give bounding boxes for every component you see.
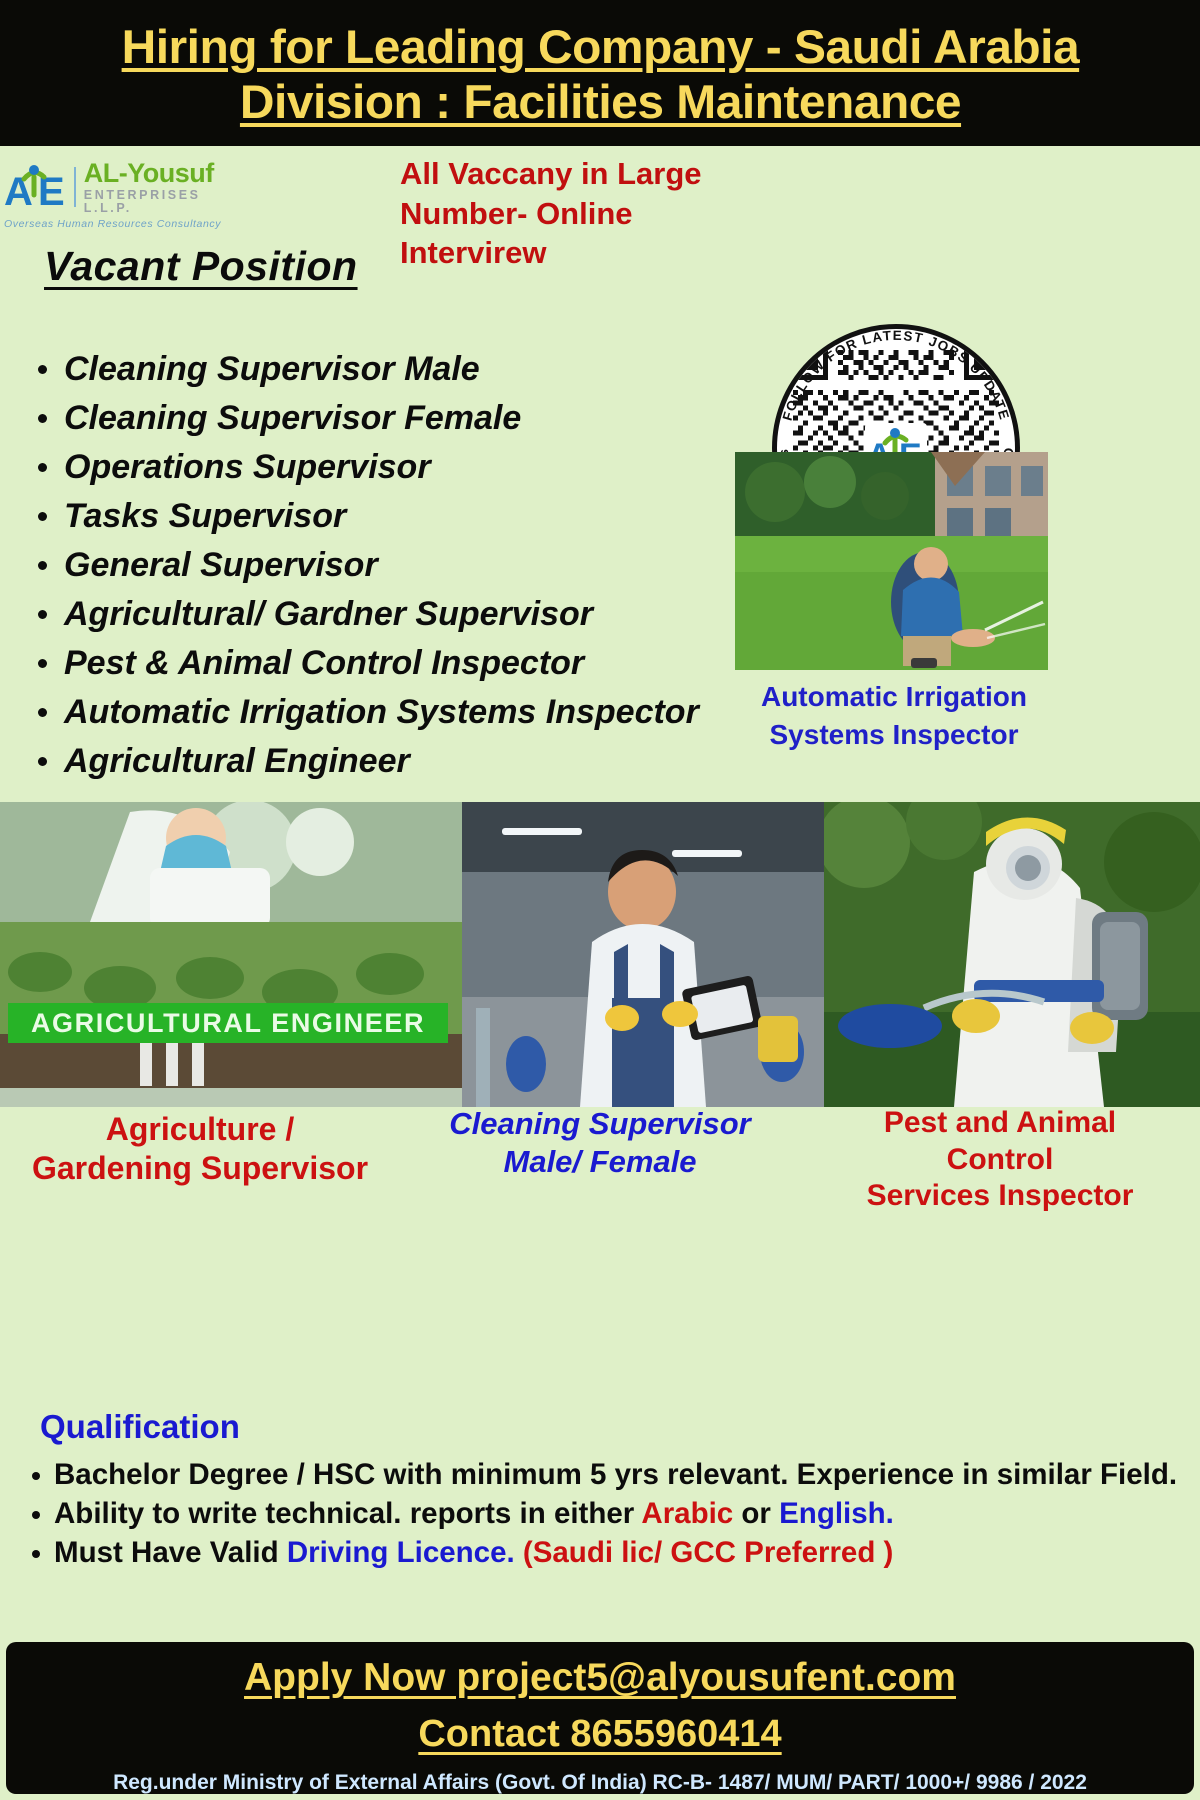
caption-line: Control xyxy=(800,1142,1200,1179)
logo-company-subtitle: ENTERPRISES L.L.P. xyxy=(84,189,234,214)
agricultural-engineer-banner-label: AGRICULTURAL ENGINEER xyxy=(31,1008,425,1039)
poster-header: Hiring for Leading Company - Saudi Arabi… xyxy=(0,0,1200,146)
poster-footer: Apply Now project5@alyousufent.com Conta… xyxy=(6,1642,1194,1794)
list-item: Tasks Supervisor xyxy=(26,492,786,541)
aye-logo-icon: A E xyxy=(4,161,66,213)
pest-control-sprayer-photo xyxy=(824,802,1200,1107)
vacant-position-list: Cleaning Supervisor Male Cleaning Superv… xyxy=(26,345,786,786)
qual-text: Must Have Valid xyxy=(54,1536,287,1569)
qualification-list: Bachelor Degree / HSC with minimum 5 yrs… xyxy=(22,1455,1182,1573)
qual-language-arabic: Arabic xyxy=(641,1497,733,1530)
caption-pest-animal-control: Pest and Animal Control Services Inspect… xyxy=(800,1105,1200,1225)
vacancy-notice: All Vaccany in Large Number- Online Inte… xyxy=(400,154,730,273)
list-item: General Supervisor xyxy=(26,541,786,590)
logo-divider xyxy=(74,167,76,207)
list-item: Cleaning Supervisor Male xyxy=(26,345,786,394)
list-item: Agricultural Engineer xyxy=(26,737,786,786)
list-item: Pest & Animal Control Inspector xyxy=(26,639,786,688)
caption-agriculture-gardening: Agriculture / Gardening Supervisor xyxy=(0,1105,400,1225)
list-item: Automatic Irrigation Systems Inspector xyxy=(26,688,786,737)
irrigation-technician-photo xyxy=(735,452,1048,670)
list-item: Agricultural/ Gardner Supervisor xyxy=(26,590,786,639)
photo-band: AGRICULTURAL ENGINEER xyxy=(0,802,1200,1107)
logo-company-name: AL-Yousuf xyxy=(84,160,234,187)
header-title-line1: Hiring for Leading Company - Saudi Arabi… xyxy=(121,23,1079,71)
list-item: Ability to write technical. reports in e… xyxy=(22,1494,1182,1533)
list-item: Must Have Valid Driving Licence. (Saudi … xyxy=(22,1533,1182,1572)
caption-line: Services Inspector xyxy=(800,1178,1200,1215)
caption-line: Gardening Supervisor xyxy=(0,1149,400,1188)
photo-band-captions: Agriculture / Gardening Supervisor Clean… xyxy=(0,1105,1200,1225)
list-item: Cleaning Supervisor Female xyxy=(26,394,786,443)
apply-email[interactable]: Apply Now project5@alyousufent.com xyxy=(244,1656,956,1700)
logo-tagline: Overseas Human Resources Consultancy xyxy=(4,218,234,230)
qual-text: Ability to write technical. reports in e… xyxy=(54,1497,641,1530)
caption-line: Male/ Female xyxy=(400,1143,800,1181)
caption-cleaning-supervisor: Cleaning Supervisor Male/ Female xyxy=(400,1105,800,1225)
agricultural-engineer-photo: AGRICULTURAL ENGINEER xyxy=(0,802,462,1107)
qual-driving-licence: Driving Licence. xyxy=(287,1536,515,1569)
list-item: Bachelor Degree / HSC with minimum 5 yrs… xyxy=(22,1455,1182,1494)
header-title-line2: Division : Facilities Maintenance xyxy=(239,78,960,126)
cleaning-supervisor-photo xyxy=(462,802,824,1107)
caption-line: Cleaning Supervisor xyxy=(400,1105,800,1143)
registration-note: Reg.under Ministry of External Affairs (… xyxy=(113,1771,1087,1795)
company-logo: A E AL-Yousuf ENTERPRISES L.L.P. Oversea… xyxy=(4,160,234,230)
irrigation-caption-line1: Automatic Irrigation xyxy=(735,678,1053,716)
qual-licence-note: (Saudi lic/ GCC Preferred ) xyxy=(515,1536,894,1569)
qualification-title: Qualification xyxy=(40,1408,240,1446)
qual-text: or xyxy=(733,1497,779,1530)
list-item: Operations Supervisor xyxy=(26,443,786,492)
caption-line: Pest and Animal xyxy=(800,1105,1200,1142)
qual-language-english: English. xyxy=(779,1497,894,1530)
job-poster: Hiring for Leading Company - Saudi Arabi… xyxy=(0,0,1200,1800)
caption-line: Agriculture / xyxy=(0,1110,400,1149)
irrigation-caption: Automatic Irrigation Systems Inspector xyxy=(735,678,1053,753)
contact-phone[interactable]: Contact 8655960414 xyxy=(418,1713,781,1756)
vacant-position-title: Vacant Position xyxy=(44,243,358,290)
irrigation-caption-line2: Systems Inspector xyxy=(735,716,1053,754)
agricultural-engineer-banner: AGRICULTURAL ENGINEER xyxy=(8,1003,448,1043)
